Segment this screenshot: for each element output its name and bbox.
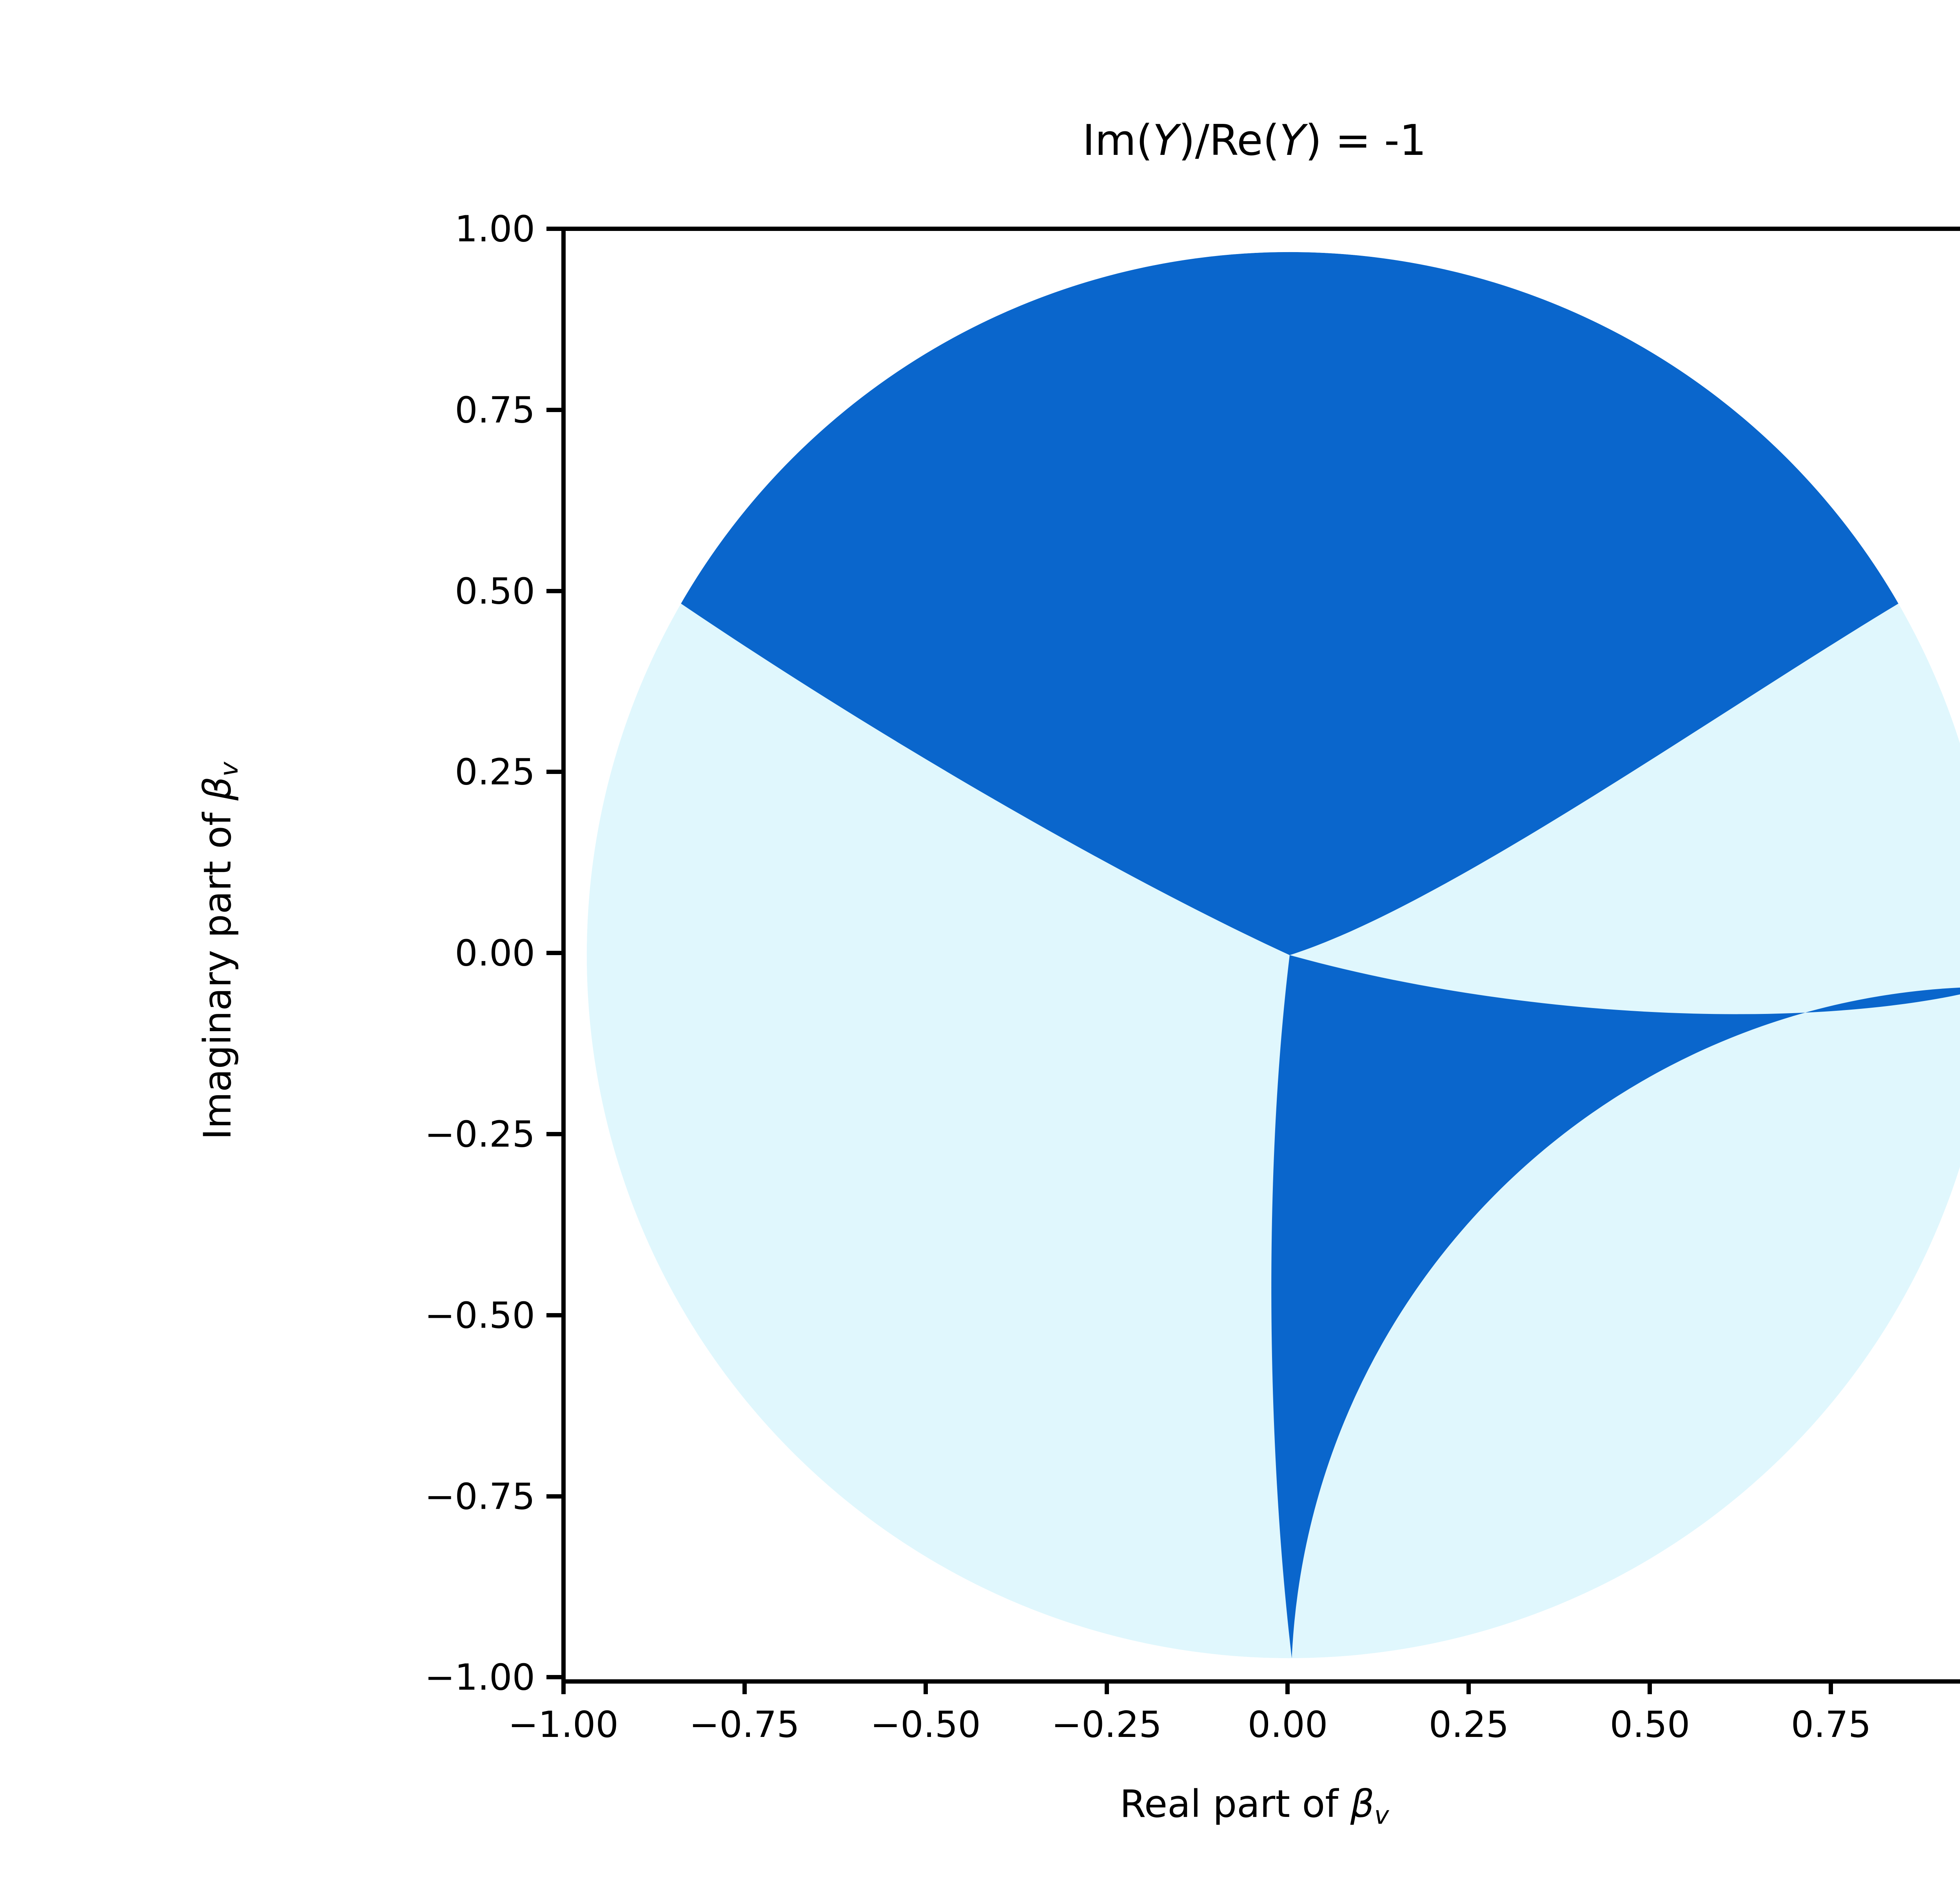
figure-canvas: Im(Y)/Re(Y) = -1 [0,0,1960,1882]
phase-diagram-svg [566,231,1960,1679]
y-tick-label: −0.50 [425,1295,535,1337]
x-axis-label: Real part of βv [0,1782,1960,1830]
y-tick-label: −0.25 [425,1114,535,1155]
y-tick-mark [546,1313,561,1317]
y-tick-mark [546,227,561,231]
x-tick-label: −0.50 [870,1704,981,1746]
y-tick-mark [546,770,561,774]
y-tick-mark [546,1494,561,1499]
x-tick-label: −0.75 [689,1704,800,1746]
y-axis-label: Imaginary part of βv [196,762,243,1140]
title-variable-2: Y [1279,116,1305,165]
y-axis-label-text: Imaginary part of [196,801,240,1140]
plot-axes [561,227,1960,1684]
y-axis-beta-subscript: v [214,762,243,777]
x-axis-label-text: Real part of [1120,1782,1350,1826]
x-tick-label: 0.50 [1610,1704,1690,1746]
x-axis-beta-symbol: β [1350,1782,1374,1826]
y-tick-label: −1.00 [425,1657,535,1699]
x-tick-mark [1829,1679,1833,1694]
y-tick-label: 0.75 [455,389,535,431]
y-tick-mark [546,1132,561,1136]
y-tick-label: 1.00 [455,208,535,250]
x-tick-label: −1.00 [508,1704,619,1746]
y-tick-mark [546,951,561,955]
chart-title: Im(Y)/Re(Y) = -1 [0,118,1960,164]
title-suffix: ) = -1 [1305,116,1426,165]
y-tick-label: −0.75 [425,1476,535,1518]
x-tick-label: 0.25 [1429,1704,1509,1746]
y-axis-beta-symbol: β [196,777,240,801]
y-tick-label: 0.25 [455,751,535,793]
x-tick-mark [1105,1679,1109,1694]
x-tick-label: −0.25 [1051,1704,1162,1746]
title-variable-1: Y [1152,116,1178,165]
y-tick-label: 0.00 [455,932,535,974]
x-tick-mark [924,1679,928,1694]
x-axis-beta-subscript: v [1374,1801,1389,1830]
x-tick-mark [1466,1679,1471,1694]
y-tick-mark [546,589,561,593]
x-tick-label: 0.75 [1791,1704,1871,1746]
title-prefix: Im( [1082,116,1152,165]
x-tick-mark [561,1679,566,1694]
x-tick-mark [742,1679,747,1694]
y-tick-mark [546,408,561,412]
plot-area [566,231,1960,1679]
x-tick-label: 0.00 [1248,1704,1328,1746]
y-tick-label: 0.50 [455,570,535,612]
x-tick-mark [1648,1679,1652,1694]
title-middle: )/Re( [1178,116,1279,165]
y-tick-mark [546,1675,561,1679]
x-tick-mark [1285,1679,1290,1694]
